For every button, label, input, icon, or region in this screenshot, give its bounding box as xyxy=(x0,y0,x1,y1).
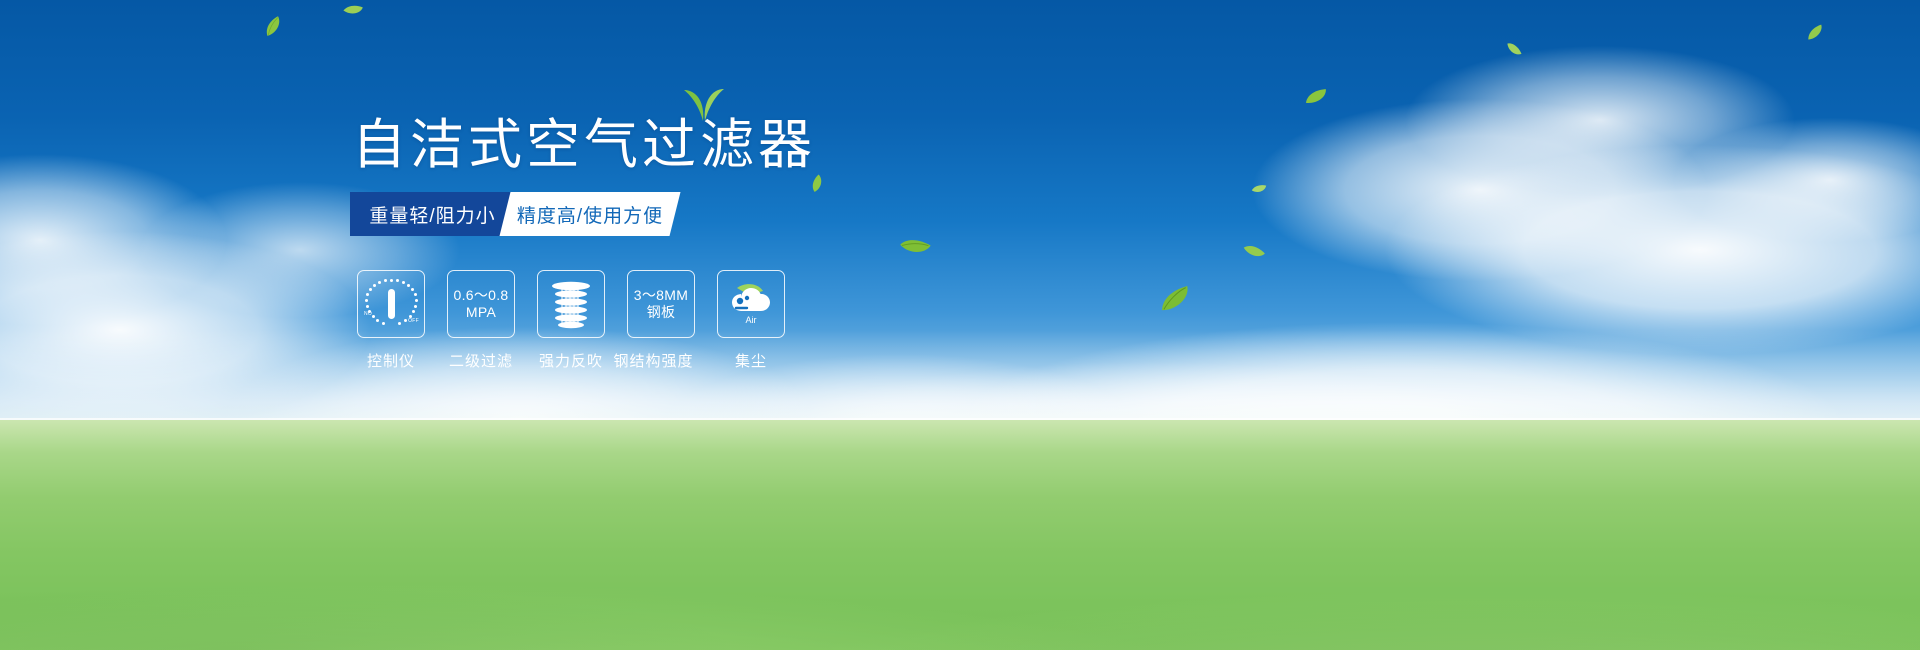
leaf-icon xyxy=(1303,88,1329,105)
horizon-line xyxy=(0,418,1920,458)
feature-badge-controller[interactable]: NO OFF 控制仪 xyxy=(356,270,426,371)
badge-box: 0.6～0.8 MPA xyxy=(447,270,515,338)
leaf-icon xyxy=(1156,285,1194,314)
leaf-icon xyxy=(807,173,827,194)
grass-shading xyxy=(0,500,1920,650)
feature-badge-pressure[interactable]: 0.6～0.8 MPA 二级过滤 xyxy=(446,270,516,371)
feature-badge-row: NO OFF 控制仪 0.6～0.8 MPA 二级过滤 xyxy=(356,270,786,371)
page-title: 自洁式空气过滤器 xyxy=(352,118,816,172)
tab-precision-convenience[interactable]: 精度高/使用方便 xyxy=(500,192,681,236)
gauge-needle xyxy=(388,289,395,319)
leaf-icon xyxy=(1505,39,1523,60)
feature-caption: 控制仪 xyxy=(367,350,415,371)
feature-badge-dust-collection[interactable]: Air 集尘 xyxy=(716,270,786,371)
feature-caption: 二级过滤 xyxy=(449,350,513,371)
tab-weight-resistance-label: 重量轻/阻力小 xyxy=(369,201,495,228)
leaf-icon xyxy=(1251,183,1268,193)
gauge-label-off: OFF xyxy=(408,318,419,324)
product-hero-banner: 自洁式空气过滤器 重量轻/阻力小 精度高/使用方便 xyxy=(0,0,1920,650)
grass-field-background xyxy=(0,420,1920,650)
leaf-icon xyxy=(260,15,285,38)
sky-clouds-background xyxy=(0,0,1920,470)
filter-coil-icon xyxy=(548,279,594,329)
steel-line-2: 钢板 xyxy=(634,304,688,321)
badge-box: Air xyxy=(717,270,785,338)
feature-caption: 集尘 xyxy=(735,350,767,371)
leaf-icon xyxy=(1242,239,1267,262)
gauge-label-no: NO xyxy=(364,311,372,317)
pressure-line-2: MPA xyxy=(453,304,508,321)
tab-weight-resistance[interactable]: 重量轻/阻力小 xyxy=(350,192,515,236)
gauge-icon: NO OFF xyxy=(365,278,417,330)
leaf-icon xyxy=(1804,23,1827,41)
dust-cloud-icon: Air xyxy=(725,281,777,327)
title-leaf-decoration xyxy=(683,88,725,127)
steel-line-1: 3～8MM xyxy=(634,287,688,304)
badge-text-block: 3～8MM 钢板 xyxy=(634,287,688,321)
feature-badge-blowback[interactable]: 强力反吹 xyxy=(536,270,606,371)
feature-badge-steel-plate[interactable]: 3～8MM 钢板 钢结构强度 xyxy=(626,270,696,371)
badge-text-block: 0.6～0.8 MPA xyxy=(453,287,508,321)
badge-box: NO OFF xyxy=(357,270,425,338)
leaf-icon xyxy=(898,232,932,259)
badge-box xyxy=(537,270,605,338)
horizon-haze xyxy=(0,330,1920,490)
badge-box: 3～8MM 钢板 xyxy=(627,270,695,338)
dust-cloud-air-label: Air xyxy=(746,315,757,325)
pressure-line-1: 0.6～0.8 xyxy=(453,287,508,304)
feature-caption: 强力反吹 xyxy=(539,350,603,371)
leaf-icon xyxy=(342,2,364,18)
tab-precision-convenience-label: 精度高/使用方便 xyxy=(517,201,663,228)
feature-caption: 钢结构强度 xyxy=(604,350,704,371)
